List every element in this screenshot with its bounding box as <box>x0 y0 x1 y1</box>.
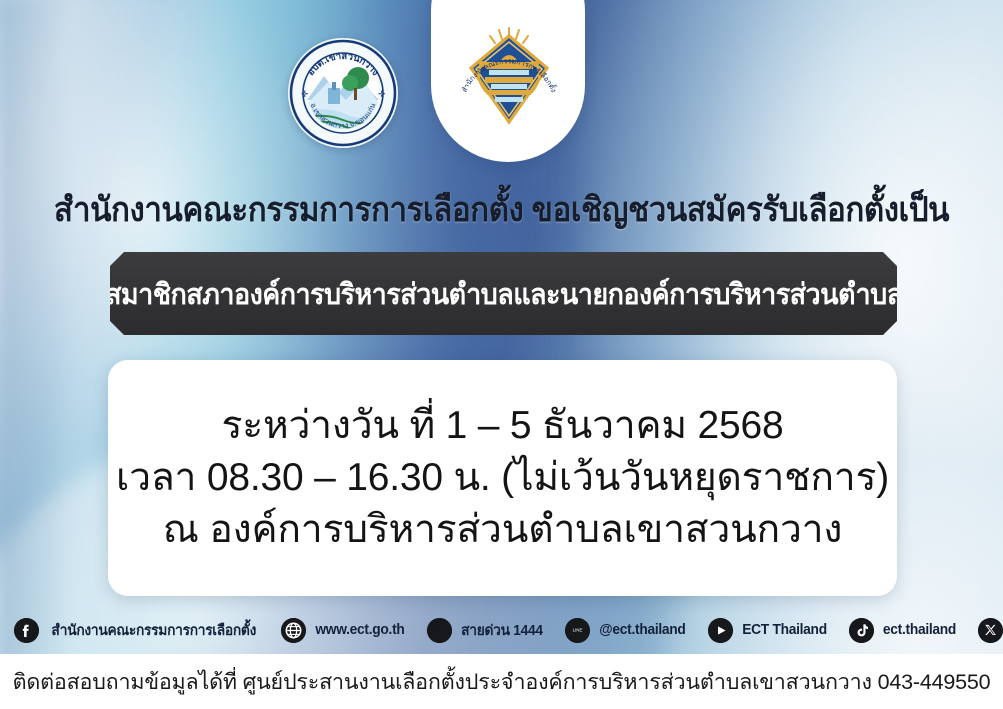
contact-bar: ติดต่อสอบถามข้อมูลได้ที่ ศูนย์ประสานงานเ… <box>0 654 1003 709</box>
info-line-time: เวลา 08.30 – 16.30 น. (ไม่เว้นวันหยุดราช… <box>116 453 889 503</box>
social-item-tiktok[interactable]: ect.thailand <box>849 618 958 643</box>
social-item-facebook[interactable]: สำนักงานคณะกรรมการการเลือกตั้ง <box>14 618 261 643</box>
social-label-tiktok: ect.thailand <box>883 622 956 638</box>
svg-text:LINE: LINE <box>573 627 583 632</box>
line-icon[interactable]: LINE <box>565 618 590 643</box>
social-channels-bar: สำนักงานคณะกรรมการการเลือกตั้ง www.ect.g… <box>0 606 1003 654</box>
facebook-icon[interactable] <box>14 618 39 643</box>
social-item-youtube[interactable]: ECT Thailand <box>708 618 829 643</box>
background-sheen <box>0 0 160 709</box>
contact-text: ติดต่อสอบถามข้อมูลได้ที่ ศูนย์ประสานงานเ… <box>13 665 991 699</box>
info-line-date: ระหว่างวัน ที่ 1 – 5 ธันวาคม 2568 <box>221 401 783 451</box>
social-item-hotline[interactable]: สายด่วน 1444 <box>427 618 545 643</box>
tiktok-icon[interactable] <box>849 618 874 643</box>
social-label-website: www.ect.go.th <box>316 622 405 638</box>
social-item-line[interactable]: LINE @ect.thailand <box>565 618 688 643</box>
info-line-venue: ณ องค์การบริหารส่วนตำบลเขาสวนกวาง <box>163 505 842 555</box>
social-label-facebook: สำนักงานคณะกรรมการการเลือกตั้ง <box>51 619 256 642</box>
social-item-website[interactable]: www.ect.go.th <box>281 618 407 643</box>
globe-icon[interactable] <box>281 618 306 643</box>
khao-suan-kwang-sao-seal-icon: ✛ ✛ อบต.เขาสวนกวาง อ.เขาสวนกวาง จ.ขอนแก่… <box>288 38 398 148</box>
youtube-icon[interactable] <box>708 618 733 643</box>
social-label-youtube: ECT Thailand <box>742 622 827 638</box>
social-label-line: @ect.thailand <box>599 622 685 638</box>
poster-banner-text: สมาชิกสภาองค์การบริหารส่วนตำบลและนายกองค… <box>105 271 903 317</box>
social-label-hotline: สายด่วน 1444 <box>461 619 543 642</box>
social-item-x-twitter[interactable]: @EctThailand <box>978 618 1003 643</box>
x-twitter-icon[interactable] <box>978 618 1003 643</box>
svg-text:✛: ✛ <box>301 89 309 99</box>
poster-info-card: ระหว่างวัน ที่ 1 – 5 ธันวาคม 2568 เวลา 0… <box>108 360 897 596</box>
poster-headline: สำนักงานคณะกรรมการการเลือกตั้ง ขอเชิญชวน… <box>40 182 963 236</box>
poster-root: สำนักงานคณะกรรมการการเลือกตั้ง <box>0 0 1003 709</box>
phone-icon[interactable] <box>427 618 452 643</box>
svg-text:✛: ✛ <box>378 89 386 99</box>
poster-banner: สมาชิกสภาองค์การบริหารส่วนตำบลและนายกองค… <box>110 252 897 335</box>
ect-thailand-emblem-icon: สำนักงานคณะกรรมการการเลือกตั้ง <box>455 22 563 134</box>
